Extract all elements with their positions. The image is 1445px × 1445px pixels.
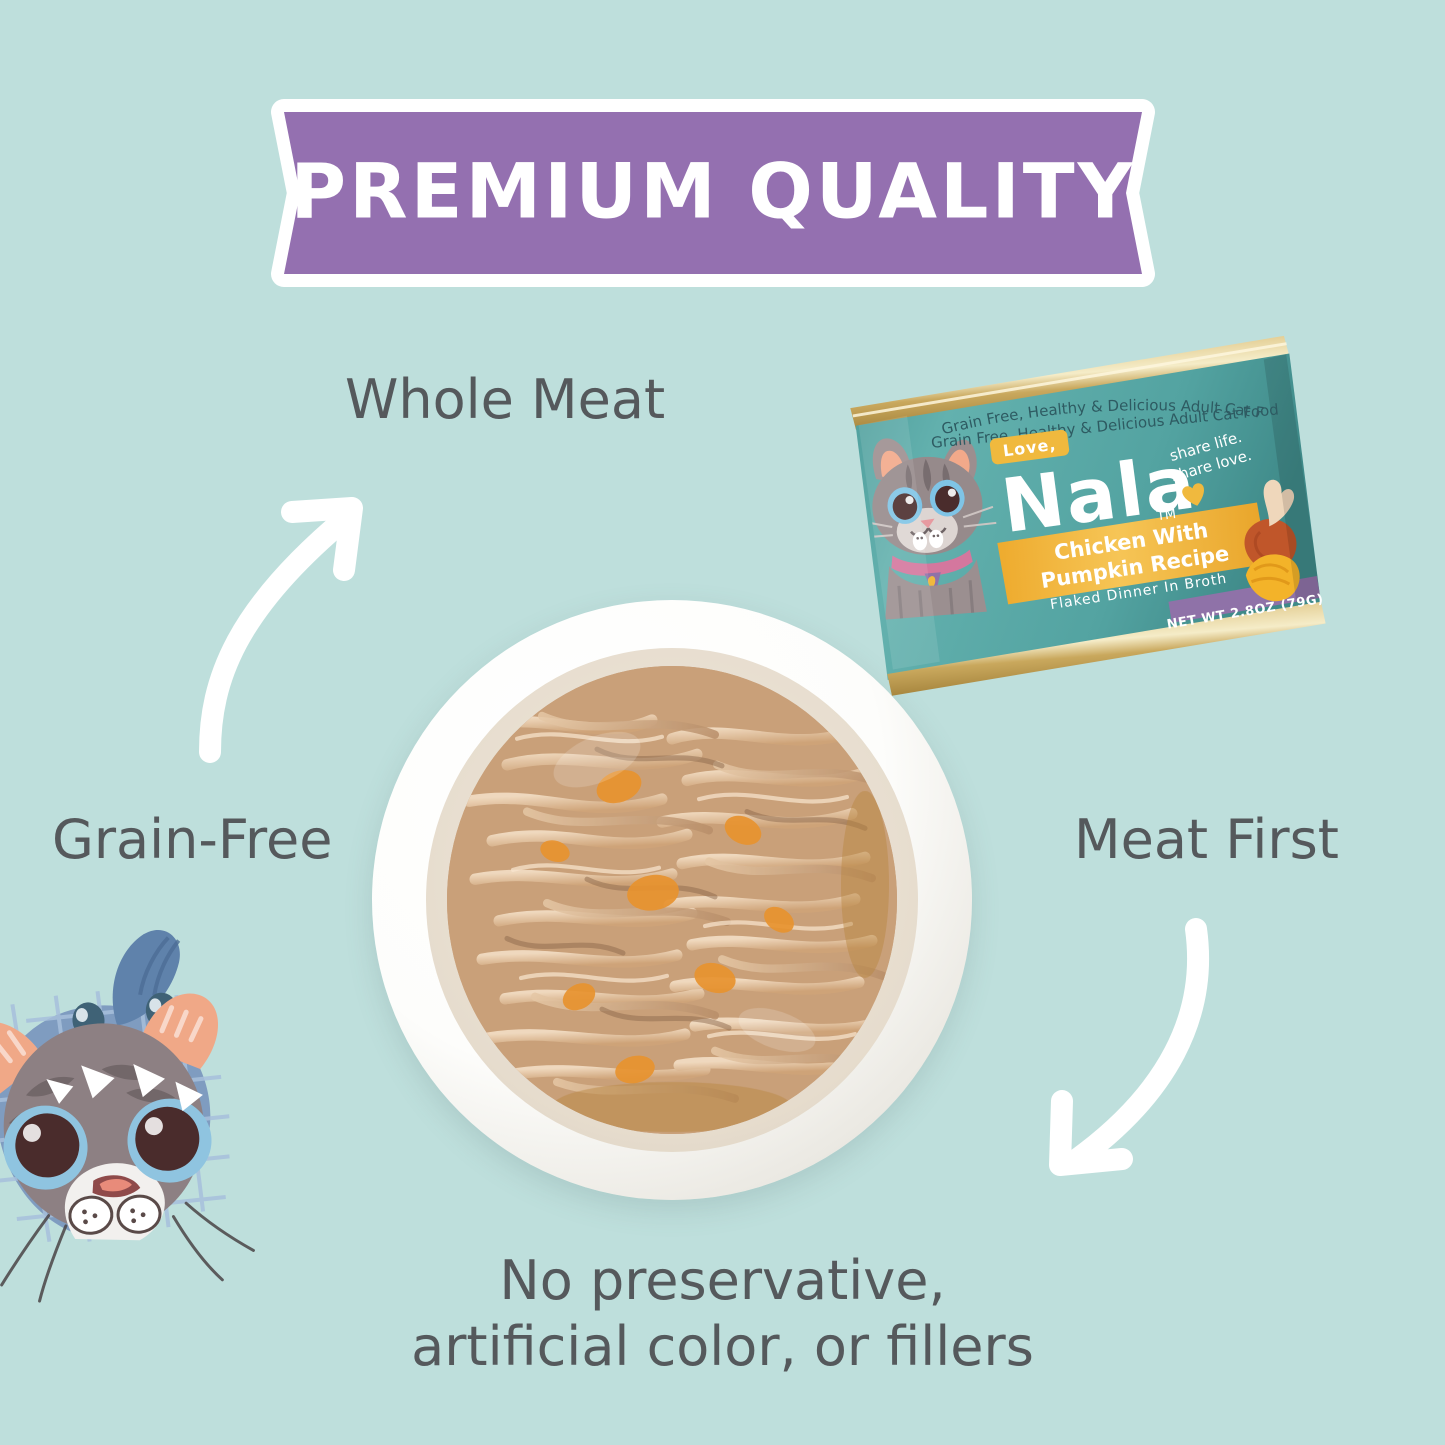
premium-quality-banner: Premium Quality (268, 98, 1158, 288)
banner-title: Premium Quality (268, 147, 1158, 236)
nala-cat-mascot (0, 930, 318, 1330)
no-preservative-line-2: artificial color, or fillers (411, 1315, 1034, 1378)
food-bowl (372, 600, 972, 1200)
cat-food-contents (447, 666, 897, 1134)
arrow-up-right-icon (168, 470, 398, 770)
can-trademark: TM (1155, 507, 1177, 525)
arrow-down-left-icon (1018, 895, 1248, 1195)
feature-label-meat-first: Meat First (1074, 808, 1339, 872)
feature-label-whole-meat: Whole Meat (345, 368, 665, 432)
feature-label-no-preservative: No preservative, artificial color, or fi… (373, 1248, 1073, 1380)
product-can: Grain Free, Healthy & Delicious Adult Ca… (845, 340, 1325, 690)
no-preservative-line-1: No preservative, (499, 1249, 945, 1312)
can-artwork: Grain Free, Healthy & Delicious Adult Ca… (845, 340, 1325, 690)
mascot-artwork (0, 930, 318, 1330)
feature-label-grain-free: Grain-Free (52, 808, 332, 872)
product-feature-graphic: Premium Quality Whole Meat Grain-Free Me… (0, 0, 1445, 1445)
